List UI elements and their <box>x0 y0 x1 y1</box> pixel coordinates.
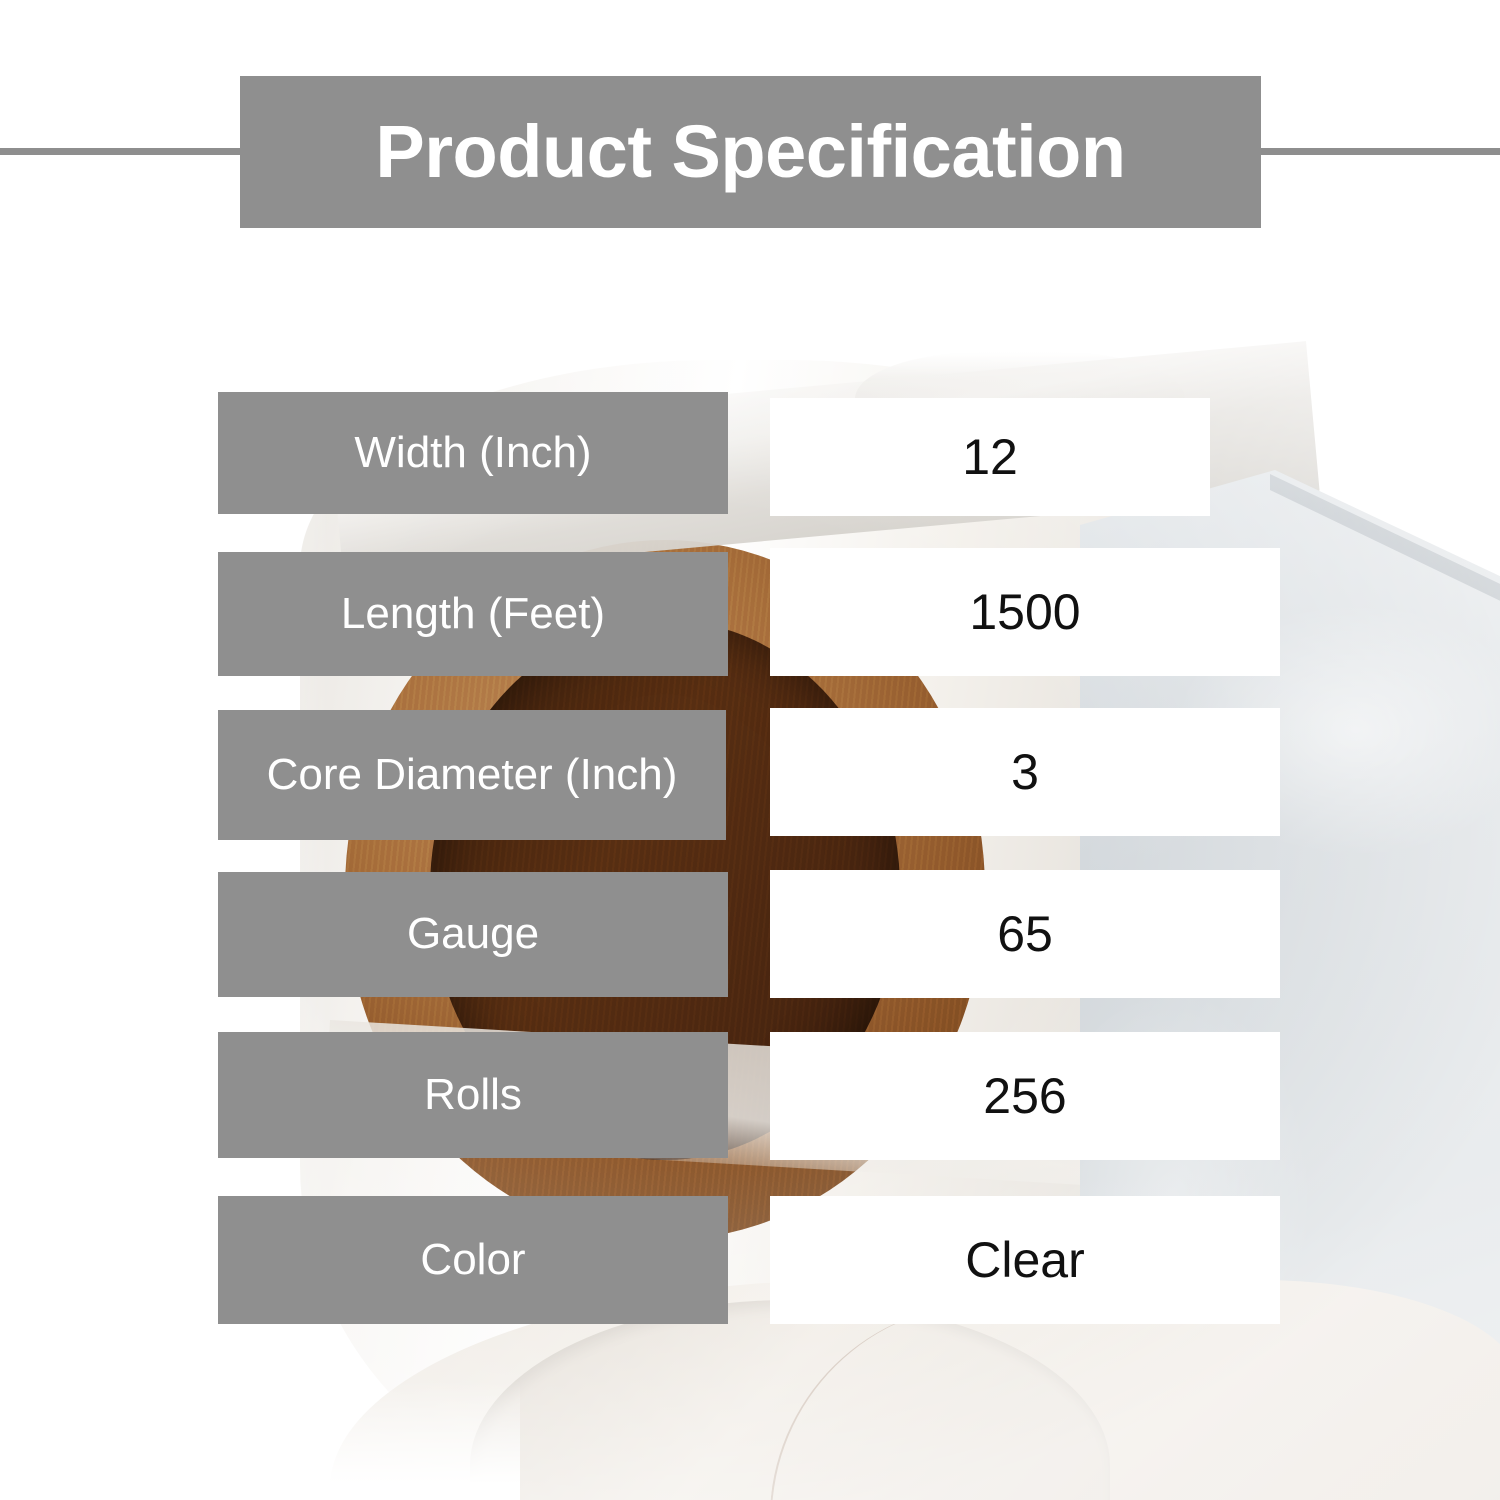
spec-label-gauge: Gauge <box>218 872 728 997</box>
spec-value-color: Clear <box>770 1196 1280 1324</box>
product-spec-canvas: Product Specification Width (Inch) 12 Le… <box>0 0 1500 1500</box>
spec-label-core-diameter: Core Diameter (Inch) <box>218 710 726 840</box>
spec-label-width: Width (Inch) <box>218 392 728 514</box>
spec-label-length: Length (Feet) <box>218 552 728 676</box>
spec-value-width: 12 <box>770 398 1210 516</box>
spec-value-core-diameter: 3 <box>770 708 1280 836</box>
spec-label-rolls: Rolls <box>218 1032 728 1158</box>
specification-table: Width (Inch) 12 Length (Feet) 1500 Core … <box>0 0 1500 1500</box>
spec-label-color: Color <box>218 1196 728 1324</box>
spec-value-gauge: 65 <box>770 870 1280 998</box>
spec-value-length: 1500 <box>770 548 1280 676</box>
spec-value-rolls: 256 <box>770 1032 1280 1160</box>
